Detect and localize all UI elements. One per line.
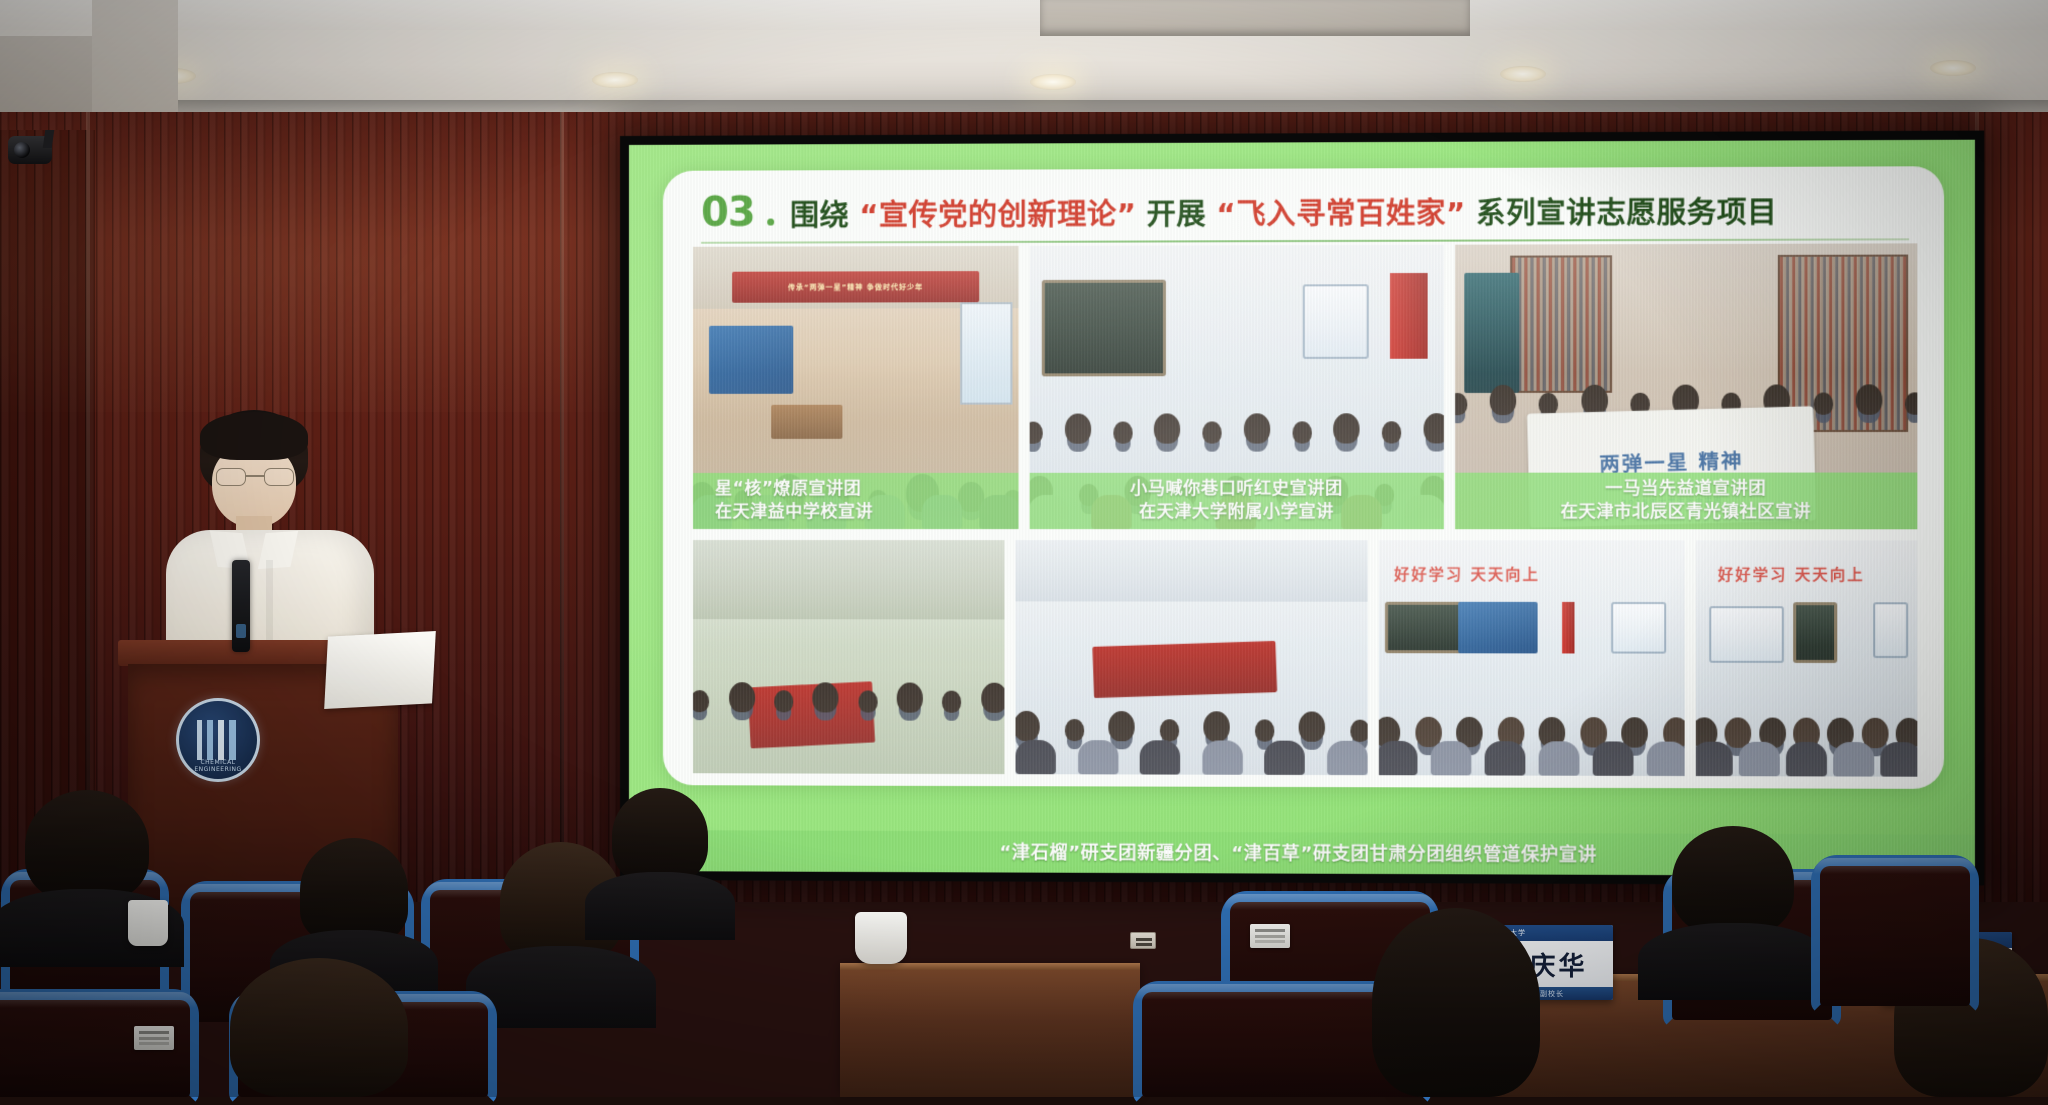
photo-1-caption-line1: 星“核”燎原宣讲团 <box>715 478 1008 501</box>
nameplate-left-university: 天津大学 <box>1494 928 1526 938</box>
nameplate-left-header: 天津大学 <box>1475 925 1613 941</box>
slide-photo-grid: 传承“两弹一星”精神 争做时代好少年 <box>693 243 1917 776</box>
nameplate-left-name: 韩庆华 <box>1475 941 1613 987</box>
seat-back-4 <box>1230 902 1430 1032</box>
downlight-4 <box>1500 66 1546 82</box>
photo-6-flag <box>1562 602 1574 654</box>
teacup-center <box>855 912 907 964</box>
audience-person-5 <box>230 958 408 1097</box>
photo-6-wallboard <box>1611 602 1666 654</box>
downlight-2 <box>592 72 638 88</box>
speaker-glasses-icon <box>216 468 294 486</box>
photo-2-caption: 小马喊你巷口听红史宣讲团 在天津大学附属小学宣讲 <box>1030 473 1444 529</box>
photo-1-caption: 星“核”燎原宣讲团 在天津益中学校宣讲 <box>693 473 1019 529</box>
photo-5-red-banner <box>1092 640 1277 698</box>
wall-seam-1 <box>86 112 90 902</box>
nameplate-left-subtitle: 常务副校长 <box>1475 987 1613 1000</box>
photo-1-banner: 传承“两弹一星”精神 争做时代好少年 <box>732 271 979 303</box>
nameplate-right-header: 天津大学 <box>1882 932 2012 948</box>
emblem-text-en: CHEMICAL ENGINEERING <box>179 759 257 773</box>
photo-row-bottom: 好好学习 天天向上 <box>693 540 1917 777</box>
ceiling-band <box>0 0 2048 30</box>
audience-person-7 <box>1894 938 2048 1097</box>
speaker-script-paper <box>324 631 436 709</box>
photo-2-caption-line1: 小马喊你巷口听红史宣讲团 <box>1040 478 1434 501</box>
seat-front-1 <box>0 1000 190 1097</box>
photo-2-group-back <box>1030 414 1444 445</box>
photo-row-top: 传承“两弹一星”精神 争做时代好少年 <box>693 243 1917 529</box>
title-segment-4: 系列宣讲志愿服务项目 <box>1476 197 1777 229</box>
photo-4-image <box>693 540 1004 774</box>
wall-seam-2 <box>560 112 564 902</box>
seat-number-tag <box>134 1026 174 1050</box>
photo-6-image: 好好学习 天天向上 <box>1379 540 1685 776</box>
photo-5-image <box>1016 540 1368 775</box>
photo-6-audience-torsos <box>1379 741 1685 776</box>
photo-5-people <box>1016 711 1368 742</box>
photo-3-poster <box>1464 273 1519 393</box>
nameplate-right-subtitle <box>1882 991 2012 1004</box>
front-desk-center <box>840 968 1140 1097</box>
front-desk-right-edge <box>1395 974 2048 981</box>
photo-3-bookshelf-left <box>1510 256 1611 393</box>
photo-3-caption-line2: 在天津市北辰区青光镇社区宣讲 <box>1465 500 1907 523</box>
photo-3-caption: 一马当先益道宣讲团 在天津市北辰区青光镇社区宣讲 <box>1455 473 1917 530</box>
nameplate-right-name: 昊 <box>1882 948 2012 991</box>
university-emblem-icon: CHEMICAL ENGINEERING <box>176 698 260 782</box>
photo-cell-3: 两弹一星 精神 2025年大学生社会实践 一马当先益道宣讲团 在天津市北辰区青光… <box>1455 243 1917 529</box>
photo-6-projection <box>1458 601 1537 653</box>
nameplate-right-university: 天津大学 <box>1901 935 1933 945</box>
photo-cell-6: 好好学习 天天向上 <box>1379 540 1685 776</box>
seat-front-2 <box>238 1002 488 1097</box>
nameplate-right: 天津大学 昊 <box>1882 932 2012 1004</box>
photo-5-torsos <box>1016 740 1368 775</box>
photo-2-flag <box>1390 273 1427 358</box>
photo-cell-2: 小马喊你巷口听红史宣讲团 在天津大学附属小学宣讲 <box>1030 245 1444 529</box>
nameplate-left: 天津大学 韩庆华 常务副校长 <box>1475 925 1613 1000</box>
photo-1-window <box>960 303 1012 405</box>
title-bullet-dot <box>767 219 774 226</box>
lecture-hall-scene: 03 围绕 “宣传党的创新理论” 开展 “飞入寻常百姓家” 系列宣讲志愿服务项目 <box>0 0 2048 1097</box>
front-desk-center-edge <box>840 963 1140 970</box>
seat-back-3 <box>430 890 630 1020</box>
photo-2-blackboard <box>1042 279 1166 376</box>
photo-7-wallboard <box>1873 602 1908 659</box>
photo-7-image: 好好学习 天天向上 <box>1696 540 1917 776</box>
photo-7-whiteboard <box>1709 606 1784 663</box>
ceiling-recess <box>1040 0 1470 36</box>
photo-1-desk <box>771 405 843 439</box>
downlight-5 <box>1930 60 1976 76</box>
downlight-3 <box>1030 74 1076 90</box>
university-logo-icon <box>1480 928 1490 938</box>
podium-microphone <box>232 560 250 652</box>
photo-6-slogan: 好好学习 天天向上 <box>1394 564 1540 585</box>
photo-cell-7: 好好学习 天天向上 <box>1696 540 1917 776</box>
projection-screen-frame: 03 围绕 “宣传党的创新理论” 开展 “飞入寻常百姓家” 系列宣讲志愿服务项目 <box>620 131 1984 886</box>
photo-7-audience-torsos <box>1696 742 1917 777</box>
lectern: CHEMICAL ENGINEERING <box>118 640 418 940</box>
slide-bottom-caption: “津石榴”研支团新疆分团、“津百草”研支团甘肃分团组织管道保护宣讲 <box>629 830 1975 876</box>
photo-4-people <box>693 683 1004 714</box>
ptz-camera-icon <box>4 128 66 174</box>
title-segment-1: “宣传党的创新理论” <box>859 199 1136 230</box>
university-logo-icon-2 <box>1887 935 1897 945</box>
photo-cell-5 <box>1016 540 1368 775</box>
front-desk-right <box>1395 978 2048 1097</box>
photo-2-whiteboard <box>1303 285 1369 359</box>
wall-outlet <box>1130 932 1156 949</box>
photo-3-caption-line1: 一马当先益道宣讲团 <box>1465 478 1907 501</box>
presentation-slide: 03 围绕 “宣传党的创新理论” 开展 “飞入寻常百姓家” 系列宣讲志愿服务项目 <box>629 140 1975 877</box>
slide-title: 03 围绕 “宣传党的创新理论” 开展 “飞入寻常百姓家” 系列宣讲志愿服务项目 <box>693 185 1917 233</box>
title-segment-0: 围绕 <box>790 200 849 231</box>
wall-panel-plate <box>92 0 178 120</box>
photo-7-blackboard <box>1793 602 1837 663</box>
photo-7-slogan: 好好学习 天天向上 <box>1718 564 1865 585</box>
audience-person-6 <box>1372 908 1540 1097</box>
photo-6-blackboard <box>1385 601 1464 653</box>
slide-number: 03 <box>701 193 755 233</box>
slide-white-card: 03 围绕 “宣传党的创新理论” 开展 “飞入寻常百姓家” 系列宣讲志愿服务项目 <box>663 166 1944 789</box>
seat-front-3 <box>1142 992 1422 1097</box>
title-segment-2: 开展 <box>1147 199 1207 230</box>
photo-2-caption-line2: 在天津大学附属小学宣讲 <box>1040 500 1434 523</box>
wall-wood-left-return <box>0 130 95 900</box>
audience-person-7-glasses-icon <box>1886 1028 1920 1042</box>
title-segment-3: “飞入寻常百姓家” <box>1216 198 1465 229</box>
photo-1-display <box>709 326 793 394</box>
photo-cell-1: 传承“两弹一星”精神 争做时代好少年 <box>693 246 1019 529</box>
seat-number-tag <box>1250 924 1290 948</box>
photo-1-caption-line2: 在天津益中学校宣讲 <box>715 501 1008 524</box>
photo-cell-4 <box>693 540 1004 774</box>
seat-number-tag <box>576 912 616 936</box>
